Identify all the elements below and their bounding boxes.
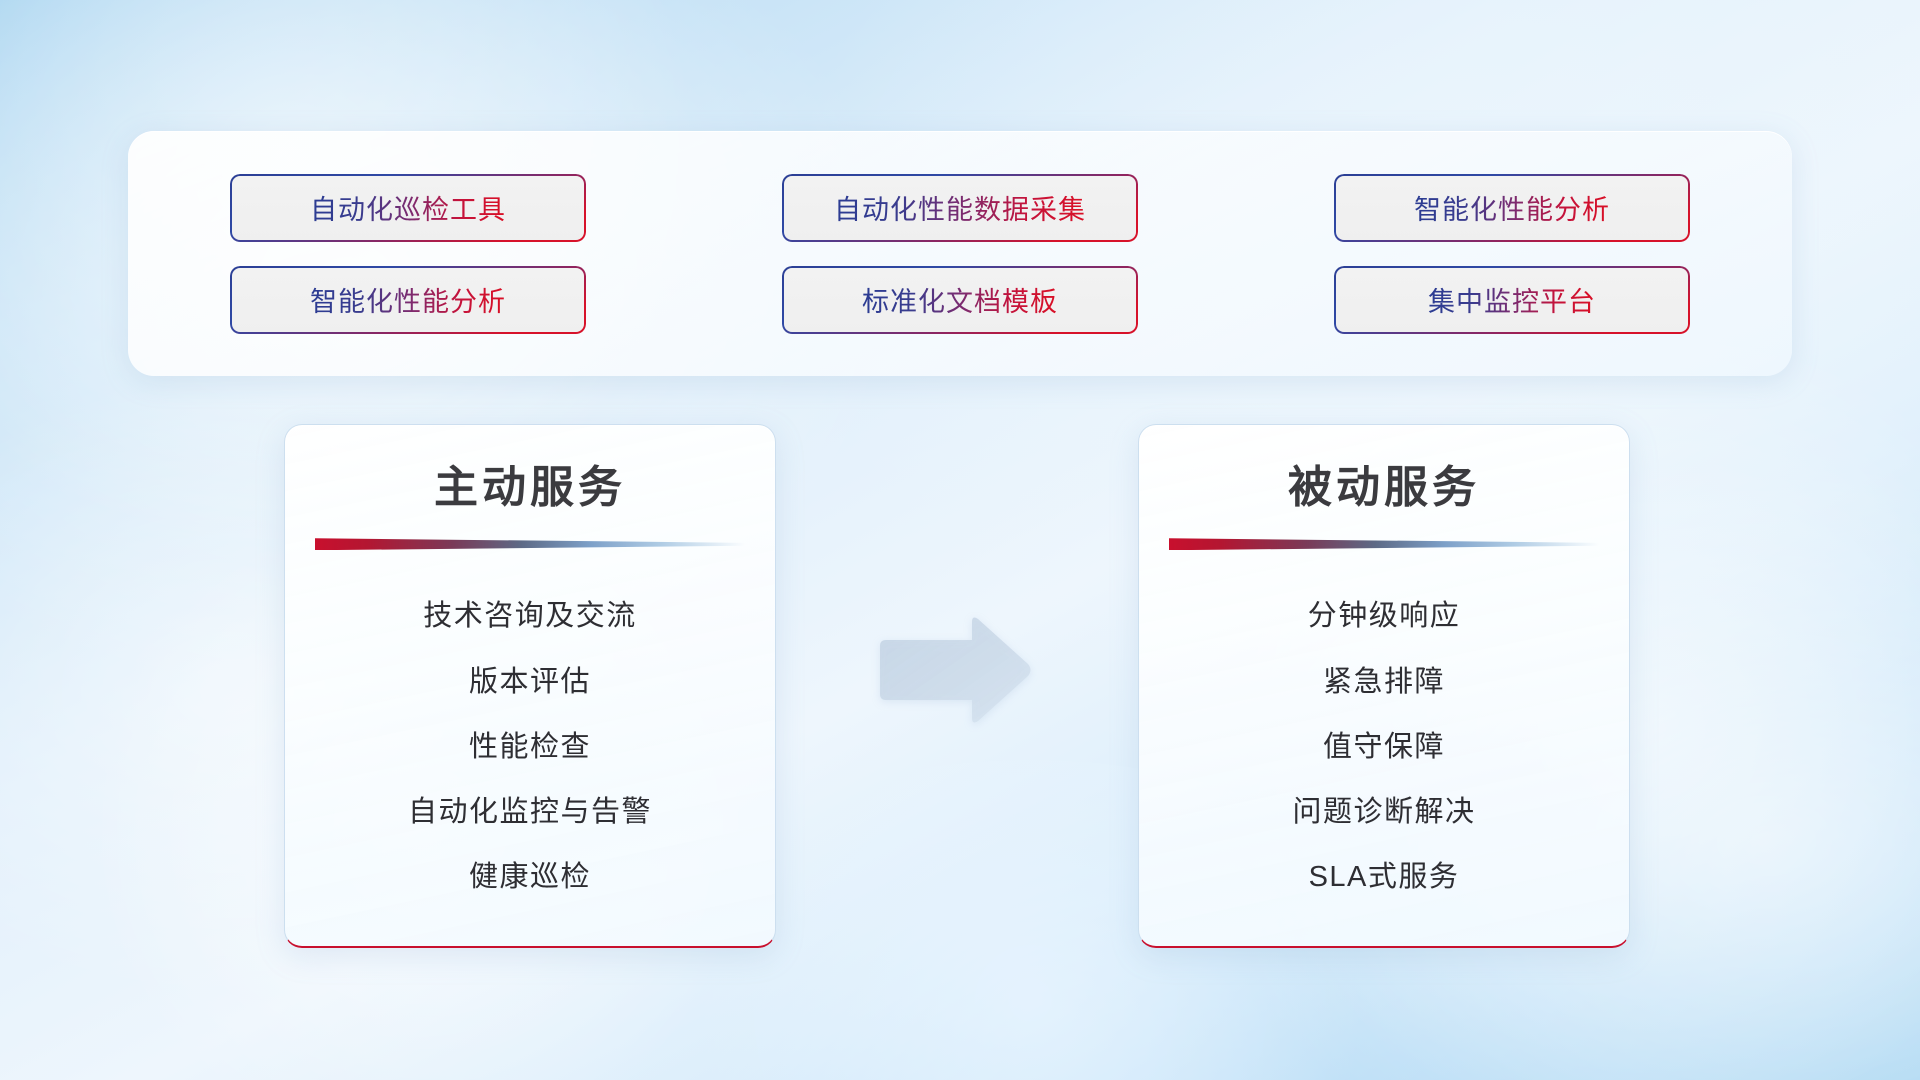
service-item: 性能检查: [469, 730, 591, 765]
divider-wedge: [1169, 538, 1599, 550]
service-card-title: 被动服务: [1288, 463, 1480, 512]
capability-tag[interactable]: 自动化性能数据采集: [782, 174, 1138, 242]
right-arrow-icon: [874, 614, 1034, 726]
capability-tag[interactable]: 自动化巡检工具: [230, 174, 586, 242]
capability-tag-label: 自动化性能数据采集: [834, 188, 1086, 227]
capability-tag[interactable]: 智能化性能分析: [1334, 174, 1690, 242]
service-item: SLA式服务: [1309, 860, 1460, 895]
capability-row-1: 自动化巡检工具 自动化性能数据采集 智能化性能分析: [128, 174, 1792, 242]
service-item: 自动化监控与告警: [408, 795, 652, 830]
title-divider: [1169, 538, 1599, 550]
capability-tag-label: 智能化性能分析: [310, 280, 506, 319]
service-item: 紧急排障: [1323, 665, 1445, 700]
capability-tag-label: 集中监控平台: [1428, 280, 1596, 319]
capabilities-panel: 自动化巡检工具 自动化性能数据采集 智能化性能分析 智能化性能分析 标准化文档模…: [128, 131, 1792, 376]
service-item-list: 技术咨询及交流 版本评估 性能检查 自动化监控与告警 健康巡检: [319, 584, 741, 920]
service-item: 技术咨询及交流: [423, 599, 637, 634]
capability-tag-label: 自动化巡检工具: [310, 188, 506, 227]
service-card-title: 主动服务: [434, 463, 626, 512]
capability-tag-label: 标准化文档模板: [862, 280, 1058, 319]
capability-tag[interactable]: 标准化文档模板: [782, 266, 1138, 334]
capability-tag[interactable]: 集中监控平台: [1334, 266, 1690, 334]
service-item: 值守保障: [1323, 730, 1445, 765]
service-card-reactive: 被动服务 分钟级响应 紧急排障 值守保障 问题诊断解决 SLA式服务: [1138, 424, 1630, 948]
service-item: 健康巡检: [469, 860, 591, 895]
service-item: 问题诊断解决: [1292, 795, 1475, 830]
service-item: 分钟级响应: [1308, 599, 1461, 634]
service-item: 版本评估: [469, 665, 591, 700]
service-item-list: 分钟级响应 紧急排障 值守保障 问题诊断解决 SLA式服务: [1173, 584, 1595, 920]
infographic-canvas: 自动化巡检工具 自动化性能数据采集 智能化性能分析 智能化性能分析 标准化文档模…: [0, 0, 1920, 1080]
service-card-proactive: 主动服务 技术咨询及交流 版本评估 性能检查 自动化监控与告警 健康巡检: [284, 424, 776, 948]
capability-tag-label: 智能化性能分析: [1414, 188, 1610, 227]
capability-row-2: 智能化性能分析 标准化文档模板 集中监控平台: [128, 266, 1792, 334]
divider-wedge: [315, 538, 745, 550]
title-divider: [315, 538, 745, 550]
capability-tag[interactable]: 智能化性能分析: [230, 266, 586, 334]
